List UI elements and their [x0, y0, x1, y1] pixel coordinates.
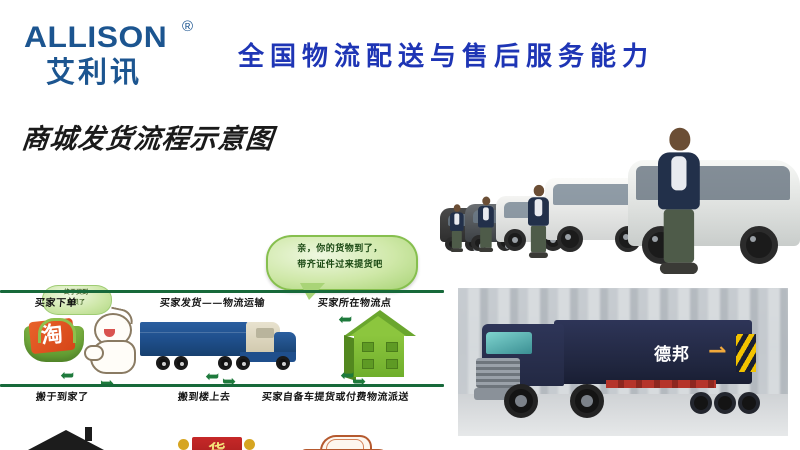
baby-arm — [84, 345, 104, 361]
logo-chinese-text: 艾利讯 — [46, 56, 209, 88]
flow-arrow-icon: ➥ — [338, 311, 352, 328]
carrier-figure-right — [241, 439, 259, 450]
staff-shoes — [479, 248, 493, 252]
carrier-figure-left — [175, 439, 193, 450]
flow-label-order: 买家下单 — [34, 294, 77, 309]
flow-label-shipping: 买家发货——物流运输 — [159, 294, 265, 309]
company-logo: ALLISON ® 艾利讯 — [24, 22, 209, 92]
vehicle-wheel — [557, 226, 583, 252]
staff-head — [668, 128, 689, 151]
truck-wheel — [570, 384, 604, 418]
truck-trailer — [140, 322, 248, 356]
basket-handle — [38, 318, 76, 343]
car-icon — [300, 435, 390, 450]
staff-shoes — [660, 263, 698, 274]
warehouse-window — [386, 359, 398, 369]
staff-member — [658, 128, 700, 274]
staff-member — [478, 197, 494, 252]
staff-legs — [452, 231, 462, 248]
truck-windshield — [486, 332, 532, 354]
cargo-box: 货 — [192, 437, 242, 450]
staff-torso — [658, 152, 700, 209]
staff-shoes — [451, 248, 463, 252]
flow-arrow-icon: ➥ — [205, 368, 219, 385]
diagram-divider — [0, 290, 444, 293]
shopping-basket-icon: 淘 — [24, 310, 86, 362]
deppon-arrow-icon: ⇀ — [708, 338, 726, 364]
flow-arrow-icon: ➥ — [340, 367, 354, 384]
warehouse-roof-highlight — [350, 316, 406, 336]
fleet-vehicle — [628, 160, 800, 246]
carrier-head — [178, 439, 189, 450]
warehouse-window — [386, 342, 398, 352]
house-roof — [28, 430, 104, 450]
carrier-head — [244, 439, 255, 450]
service-vehicle-fleet-photo — [440, 112, 800, 282]
flow-arrow-icon: ➥ — [60, 367, 74, 384]
registered-trademark-icon: ® — [182, 18, 193, 35]
staff-legs — [480, 228, 492, 248]
diagram-title: 商城发货流程示意图 — [20, 117, 276, 156]
staff-torso — [528, 197, 549, 226]
staff-torso — [478, 206, 494, 228]
truck-wheel — [156, 356, 170, 370]
bubble-line-2: 带齐证件过来提货吧 — [272, 257, 408, 273]
diagram-divider — [0, 384, 444, 387]
vehicle-wheel — [504, 229, 526, 251]
trailer-side-rail — [606, 380, 716, 388]
flow-label-logistics-point: 买家所在物流点 — [317, 294, 392, 309]
flow-label-self-pickup: 买家自备车提货或付费物流派送 — [261, 388, 409, 403]
truck-wheel — [236, 356, 250, 370]
carriers-icon: 货 — [175, 433, 259, 450]
hazard-stripes-icon — [736, 334, 756, 372]
staff-torso — [450, 212, 464, 231]
shipping-flow-diagram: 商城发货流程示意图 终于买到 宝贝了 淘 — [0, 105, 445, 420]
staff-legs — [664, 209, 694, 262]
warehouse-window — [362, 359, 374, 369]
page-title: 全国物流配送与售后服务能力 — [238, 36, 758, 76]
truck-wheel — [738, 392, 760, 414]
staff-member — [450, 204, 464, 252]
home-icon — [28, 430, 104, 450]
truck-wheel — [504, 384, 538, 418]
staff-head — [453, 204, 460, 211]
truck-grille — [476, 358, 520, 388]
semi-truck-icon — [140, 318, 305, 380]
flow-label-home-delivered: 搬于到家了 — [35, 388, 89, 403]
flow-label-carry-upstairs: 搬到楼上去 — [177, 388, 231, 403]
staff-head — [533, 185, 543, 196]
truck-wheel — [174, 356, 188, 370]
vehicle-wheel — [740, 226, 778, 264]
truck-wheel — [714, 392, 736, 414]
truck-wheel — [690, 392, 712, 414]
staff-legs — [531, 226, 546, 253]
bubble-line-1: 亲，你的货物到了， — [272, 241, 408, 257]
staff-head — [482, 197, 490, 206]
deppon-logistics-truck-photo: 德邦 ⇀ — [458, 288, 788, 436]
staff-shoes — [529, 252, 548, 258]
cartoon-buyer-icon — [88, 313, 136, 371]
slide-canvas: ALLISON ® 艾利讯 全国物流配送与售后服务能力 商城发货流程示意图 终于… — [0, 0, 800, 450]
truck-wheel — [276, 356, 290, 370]
staff-member — [528, 185, 549, 258]
truck-wheel — [218, 356, 232, 370]
truck-window — [256, 328, 274, 338]
warehouse-window — [362, 342, 374, 352]
delivery-speech-bubble-text: 亲，你的货物到了， 带齐证件过来提货吧 — [272, 241, 408, 273]
